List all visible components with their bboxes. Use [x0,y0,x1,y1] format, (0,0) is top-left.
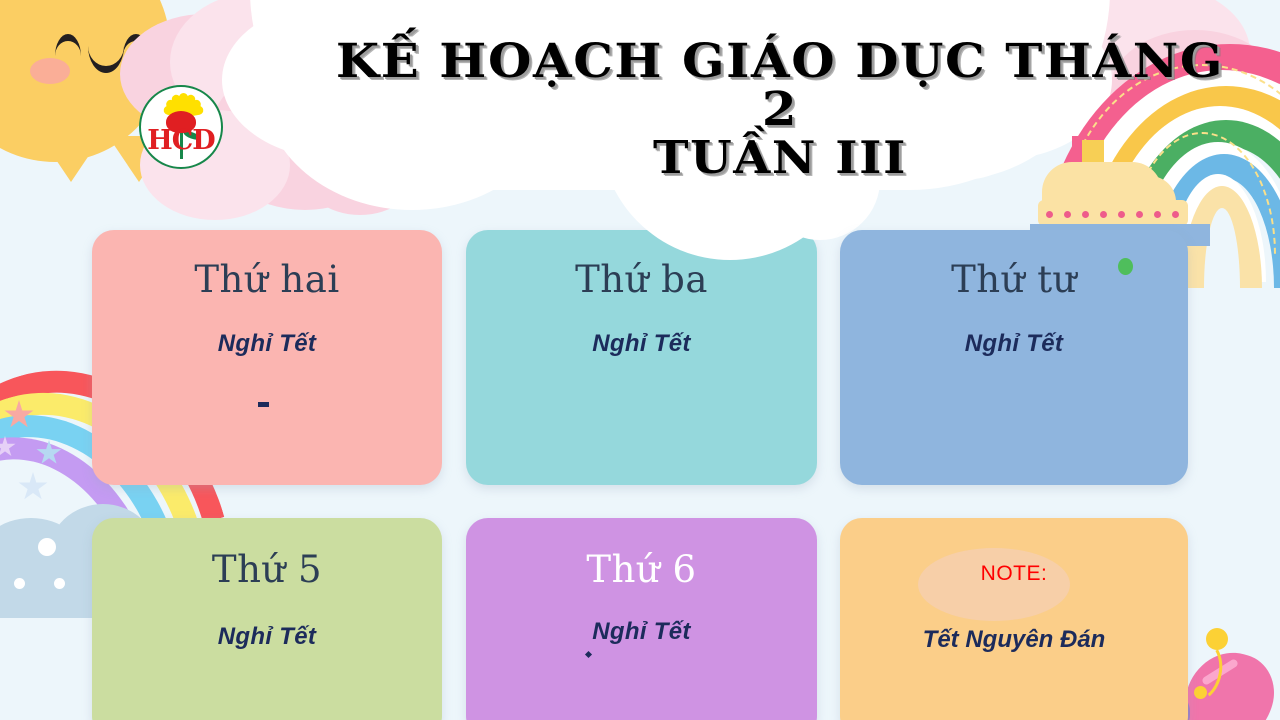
day-card-minidot [585,651,592,658]
day-card-wednesday[interactable]: Thứ tư Nghỉ Tết [840,230,1188,485]
day-card-title: Thứ 6 [466,548,817,591]
school-logo: HCD [139,85,223,169]
day-card-title: Thứ 5 [92,548,442,591]
green-dot-icon [1118,258,1133,275]
day-card-subtitle: Nghỉ Tết [840,330,1188,358]
page-title: KẾ HOẠCH GIÁO DỤC THÁNG 2 TUẦN III [340,38,1220,181]
day-card-thursday[interactable]: Thứ 5 Nghỉ Tết [92,518,442,720]
day-card-title: Thứ hai [92,258,442,301]
title-line-1: KẾ HOẠCH GIÁO DỤC THÁNG 2 [314,38,1247,135]
day-card-title: Thứ tư [840,258,1188,301]
day-card-tuesday[interactable]: Thứ ba Nghỉ Tết [466,230,817,485]
note-card[interactable]: NOTE: Tết Nguyên Đán [840,518,1188,720]
day-card-dash [258,402,269,407]
day-card-monday[interactable]: Thứ hai Nghỉ Tết [92,230,442,485]
note-label: NOTE: [840,562,1188,586]
title-line-2: TUẦN III [314,135,1247,181]
day-card-title: Thứ ba [466,258,817,301]
slide-canvas: KẾ HOẠCH GIÁO DỤC THÁNG 2 TUẦN III HCD T… [0,0,1280,720]
note-text: Tết Nguyên Đán [840,626,1188,654]
day-card-subtitle: Nghỉ Tết [466,618,817,646]
logo-text: HCD [139,127,223,154]
day-card-friday[interactable]: Thứ 6 Nghỉ Tết [466,518,817,720]
day-card-subtitle: Nghỉ Tết [466,330,817,358]
day-card-subtitle: Nghỉ Tết [92,623,442,651]
day-card-subtitle: Nghỉ Tết [92,330,442,358]
